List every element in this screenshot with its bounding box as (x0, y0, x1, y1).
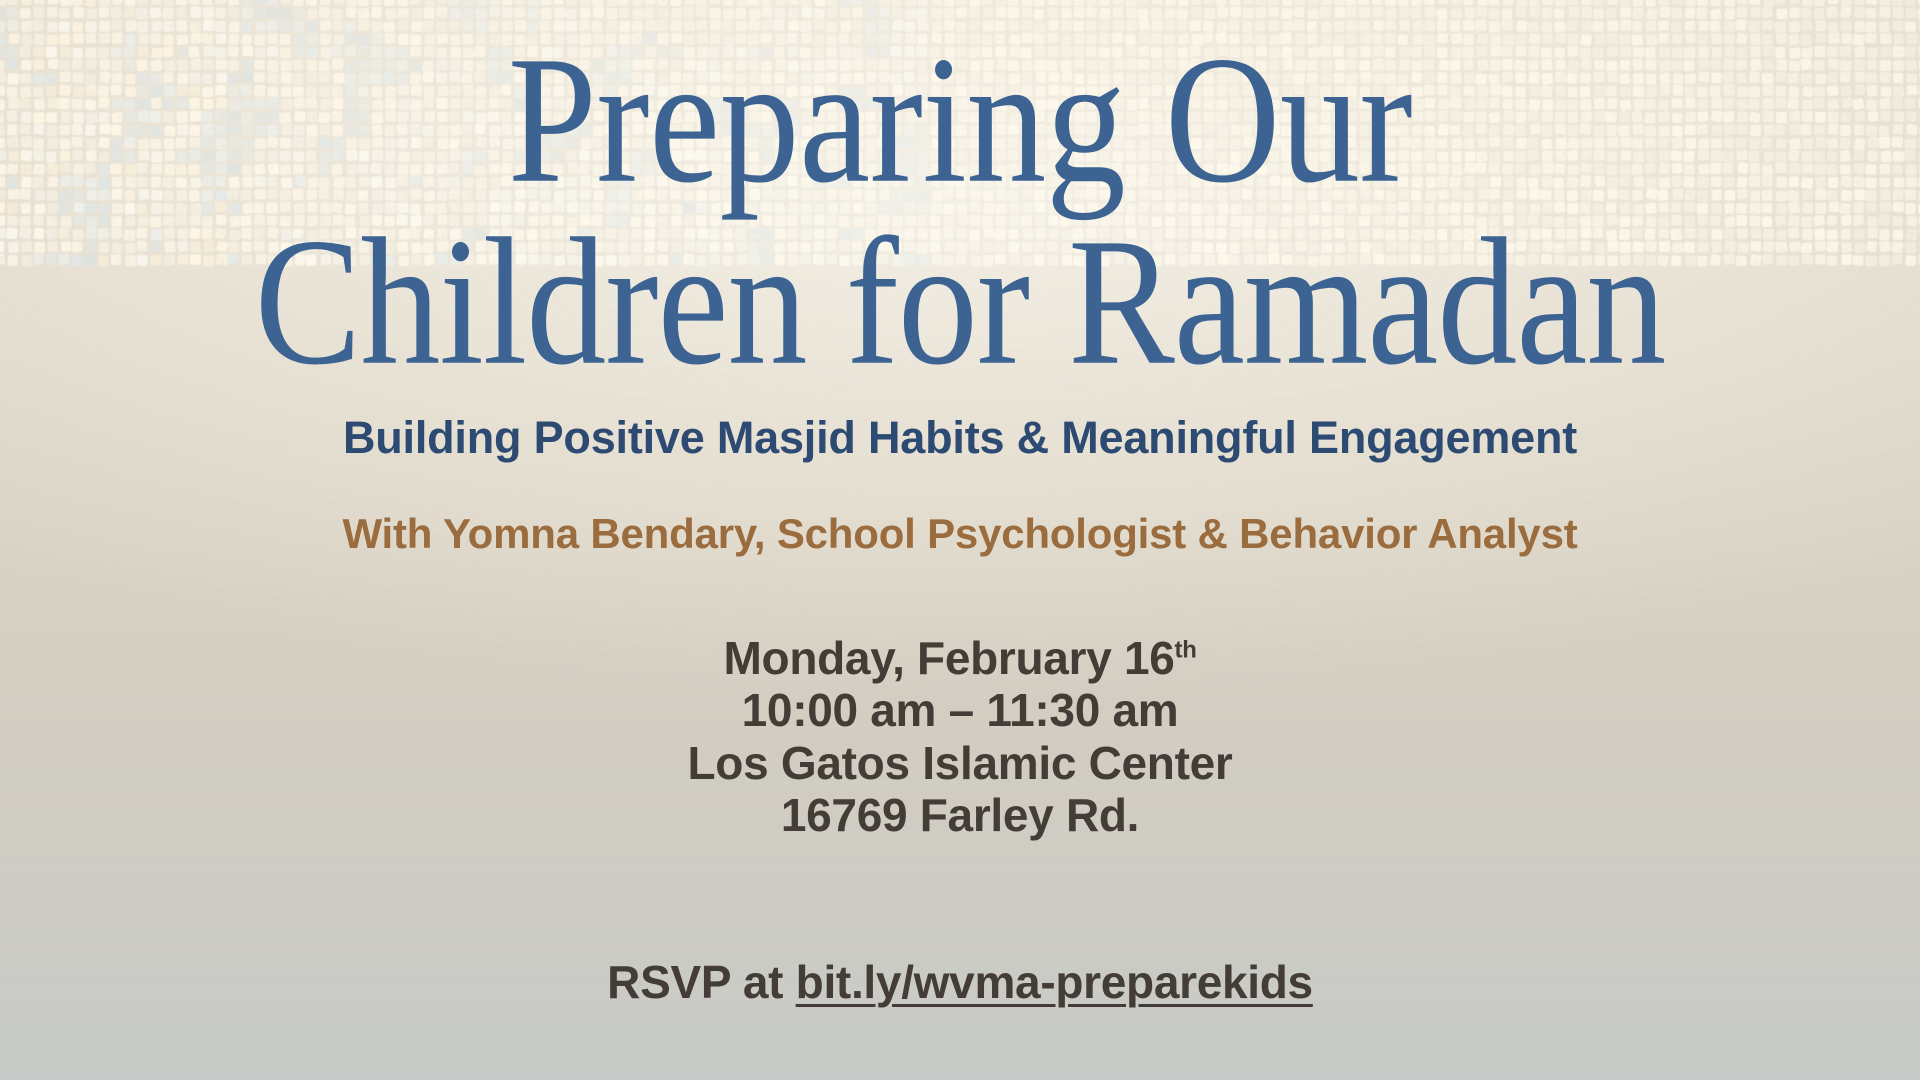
event-date-ordinal: th (1175, 637, 1197, 664)
title-block: Preparing Our Children for Ramadan (0, 28, 1920, 370)
rsvp-prefix: RSVP at (607, 956, 796, 1008)
event-date: Monday, February 16th (0, 632, 1920, 684)
event-flyer: Preparing Our Children for Ramadan Build… (0, 0, 1920, 1080)
event-time: 10:00 am – 11:30 am (0, 684, 1920, 736)
subtitle: Building Positive Masjid Habits & Meanin… (0, 412, 1920, 464)
event-venue: Los Gatos Islamic Center (0, 737, 1920, 789)
title-line-1: Preparing Our (0, 28, 1920, 210)
event-date-text: Monday, February 16 (724, 632, 1175, 684)
event-details: Monday, February 16th 10:00 am – 11:30 a… (0, 632, 1920, 842)
rsvp-line: RSVP at bit.ly/wvma-preparekids (0, 955, 1920, 1009)
flyer-content: Preparing Our Children for Ramadan Build… (0, 0, 1920, 1080)
speaker-line: With Yomna Bendary, School Psychologist … (0, 510, 1920, 558)
title-line-2: Children for Ramadan (0, 210, 1920, 392)
event-address: 16769 Farley Rd. (0, 789, 1920, 841)
rsvp-link[interactable]: bit.ly/wvma-preparekids (796, 956, 1313, 1008)
